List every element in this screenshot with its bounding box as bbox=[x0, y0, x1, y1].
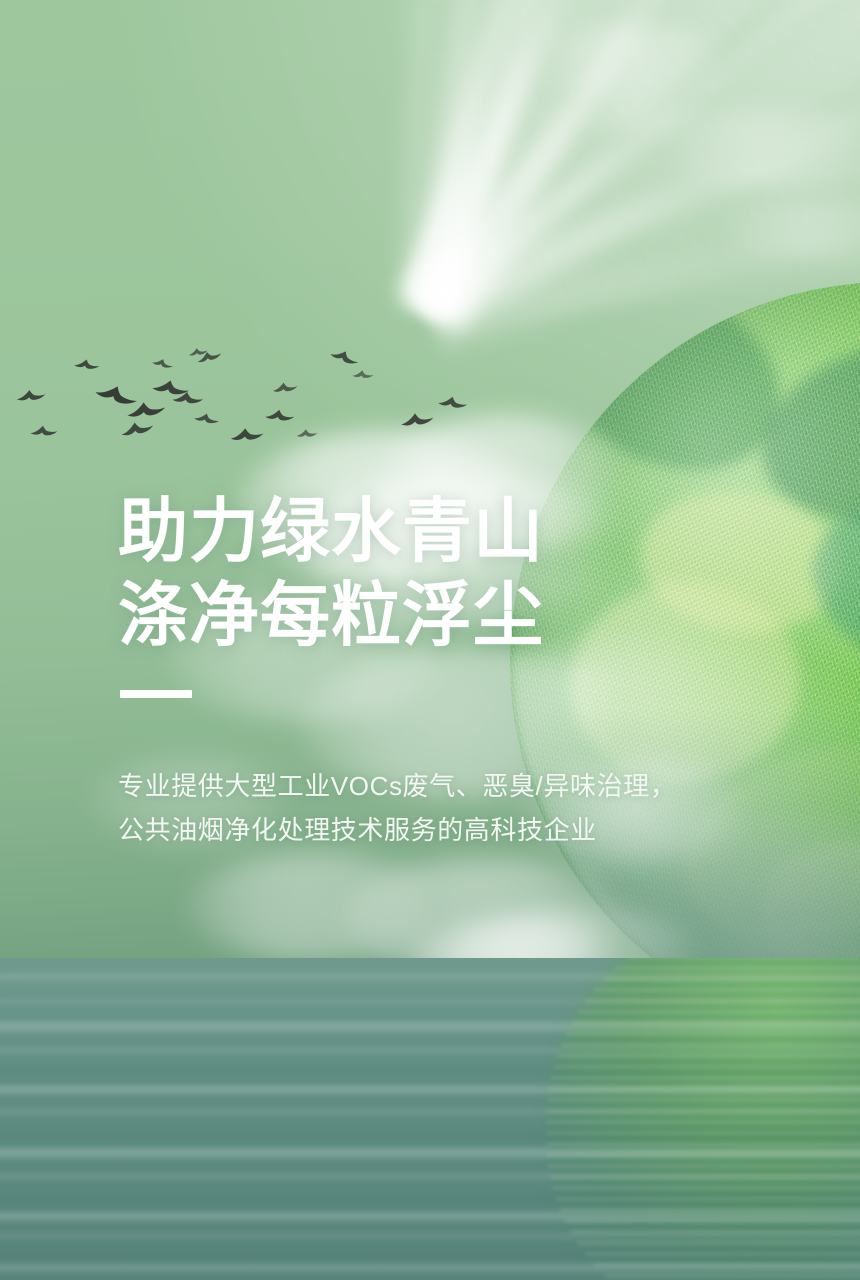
headline-line-1: 助力绿水青山 bbox=[118, 492, 544, 570]
subtitle-line-2: 公共油烟净化处理技术服务的高科技企业 bbox=[118, 808, 698, 852]
subtitle-line-1: 专业提供大型工业VOCs废气、恶臭/异味治理， bbox=[118, 771, 676, 801]
headline: 助力绿水青山 涤净每粒浮尘 bbox=[118, 489, 678, 657]
headline-divider-rule bbox=[120, 690, 192, 698]
subtitle: 专业提供大型工业VOCs废气、恶臭/异味治理， 公共油烟净化处理技术服务的高科技… bbox=[118, 764, 698, 852]
headline-line-2: 涤净每粒浮尘 bbox=[118, 573, 678, 657]
text-content-layer: 助力绿水青山 涤净每粒浮尘 专业提供大型工业VOCs废气、恶臭/异味治理， 公共… bbox=[0, 0, 860, 1280]
eco-hero-poster: 助力绿水青山 涤净每粒浮尘 专业提供大型工业VOCs废气、恶臭/异味治理， 公共… bbox=[0, 0, 860, 1280]
